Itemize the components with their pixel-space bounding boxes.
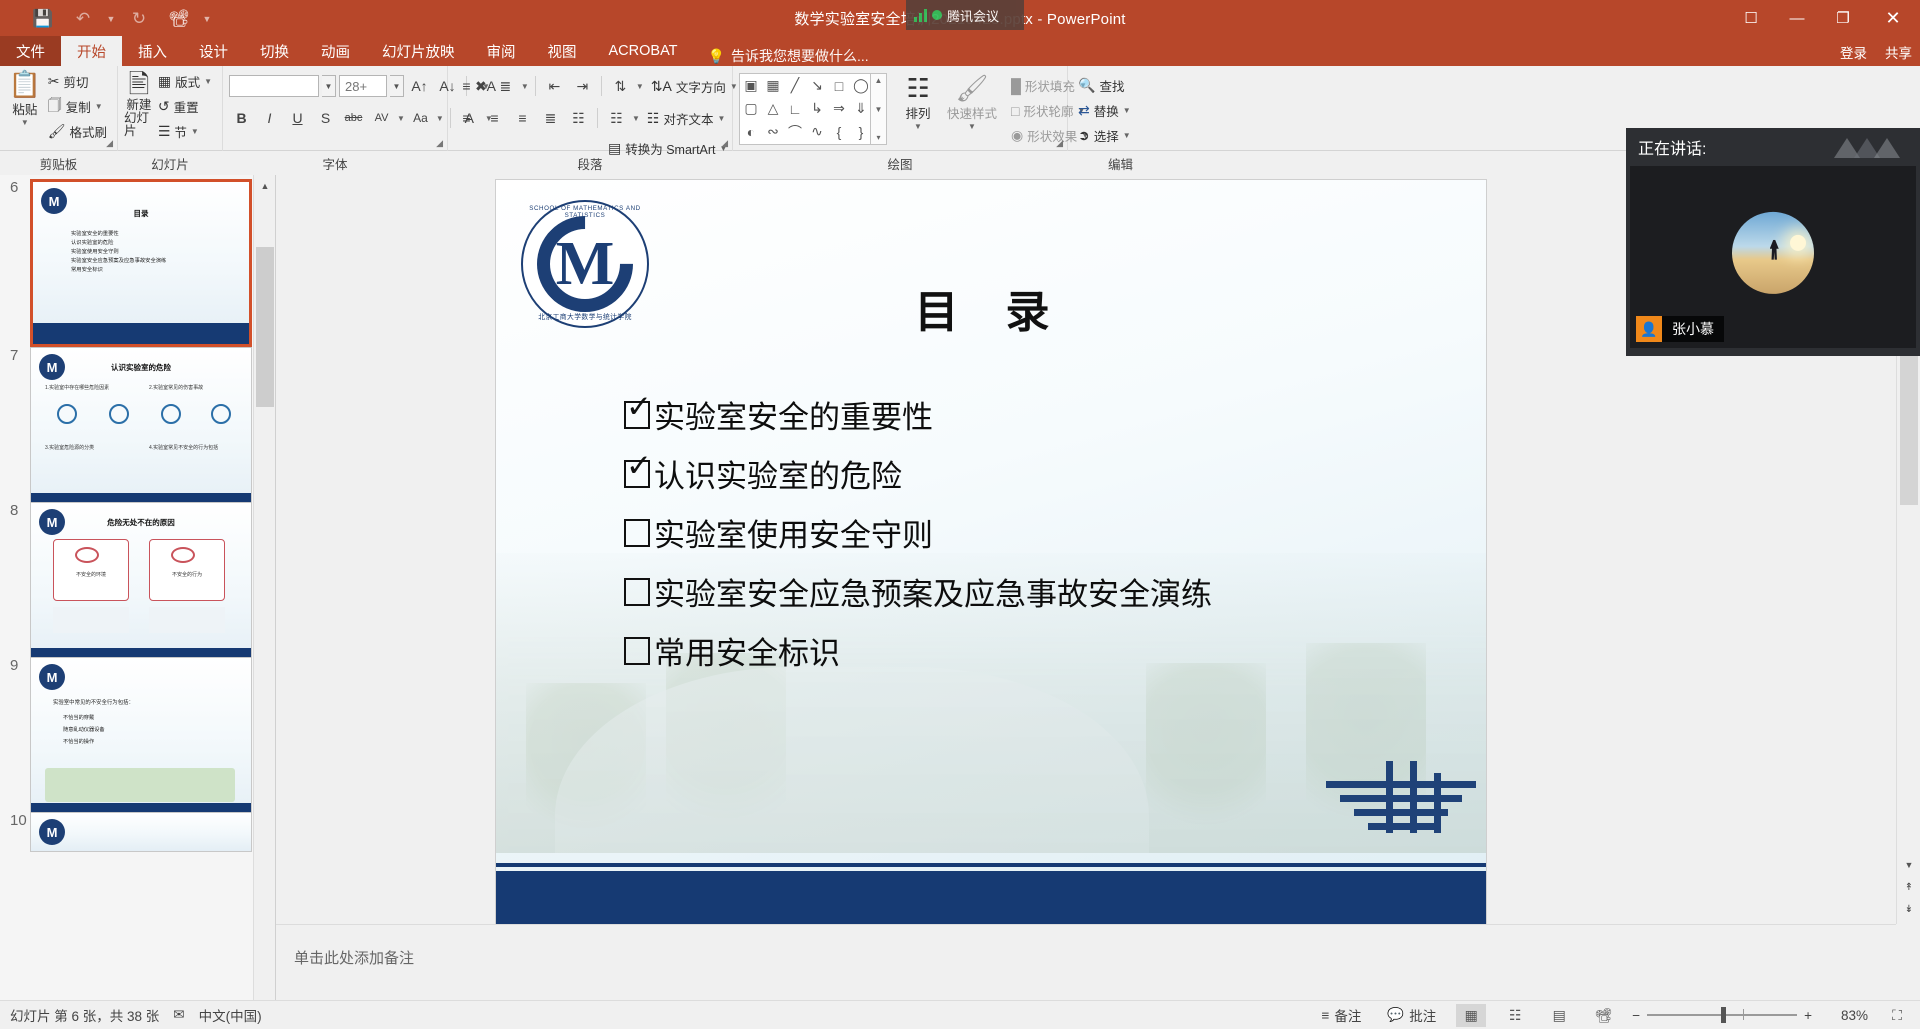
next-slide-button[interactable]: ↡ — [1897, 898, 1920, 920]
slide-sorter-view-button[interactable]: ☷ — [1500, 1004, 1530, 1027]
arrange-icon: ☷ — [906, 73, 929, 103]
thumb-line: 实验室中常见的不安全行为包括： — [53, 698, 134, 706]
sign-in-link[interactable]: 登录 — [1840, 42, 1867, 62]
tell-me-box[interactable]: 💡 告诉我您想要做什么... — [694, 46, 869, 66]
tab-transitions[interactable]: 切换 — [244, 36, 305, 66]
shape-ellipse-icon[interactable]: ◯ — [850, 74, 872, 97]
shapes-more-icon[interactable]: ▾ — [876, 133, 880, 142]
paragraph-row-2: ≡ ≡ ≡ ≣ ☷ ☷ ▼ ☷ 对齐文本 ▼ — [454, 105, 742, 131]
corner-ornament — [1326, 751, 1476, 847]
clipboard-group-label: 剪贴板 — [0, 154, 117, 173]
close-button[interactable]: ✕ — [1866, 0, 1920, 36]
numbering-button[interactable]: ≣ — [493, 74, 518, 99]
layout-button[interactable]: ▦ 版式 ▼ — [154, 69, 216, 94]
ribbon-group-drawing: ▣ ▦ ╱ ↘ □ ◯ ▢ △ ∟ ↳ ⇒ ⇓ ◐ ∾ ⌒ ∿ { — [733, 66, 1068, 151]
shape-left-brace-icon[interactable]: { — [828, 120, 850, 143]
zoom-tick — [1743, 1009, 1744, 1020]
paragraph-row-1: ≡ ▼ ≣ ▼ ⇤ ⇥ ⇅ ▼ ⇅A 文字方向 ▼ — [454, 73, 742, 99]
tab-home[interactable]: 开始 — [61, 36, 122, 66]
tab-review[interactable]: 审阅 — [471, 36, 532, 66]
shape-rounded-rectangle-icon[interactable]: ▢ — [740, 97, 762, 120]
notes-placeholder: 单击此处添加备注 — [294, 947, 414, 968]
recording-dot-icon — [932, 10, 942, 20]
unchecked-checkbox-icon — [624, 519, 650, 547]
comments-label: 批注 — [1409, 1005, 1436, 1025]
align-text-caret-icon[interactable]: ▼ — [718, 114, 726, 123]
arrange-label: 排列 — [905, 103, 930, 122]
case-caret-icon[interactable]: ▼ — [436, 114, 444, 123]
bullets-caret-icon[interactable]: ▼ — [482, 82, 490, 91]
account-area: 登录 共享 — [1840, 42, 1912, 62]
change-case-button[interactable]: Aa — [408, 106, 433, 131]
ribbon-group-paragraph: ≡ ▼ ≣ ▼ ⇤ ⇥ ⇅ ▼ ⇅A 文字方向 ▼ — [448, 66, 733, 151]
cursor-icon: ➲ — [1078, 127, 1090, 144]
font-dialog-launcher[interactable]: ◢ — [436, 138, 443, 149]
tab-design[interactable]: 设计 — [183, 36, 244, 66]
section-icon: ☰ — [158, 123, 171, 140]
thumb-line: 实验室使用安全守则 — [71, 248, 166, 257]
columns-button[interactable]: ☷ — [604, 106, 629, 131]
agenda-item-label: 实验室安全的重要性 — [654, 392, 933, 437]
notes-pane[interactable]: 单击此处添加备注 — [276, 924, 1896, 1000]
thumb-number-6: 6 — [10, 179, 18, 196]
align-left-button[interactable]: ≡ — [454, 106, 479, 131]
character-spacing-button[interactable]: AV — [369, 106, 394, 131]
columns-caret-icon[interactable]: ▼ — [632, 114, 640, 123]
shape-triangle-icon[interactable]: △ — [762, 97, 784, 120]
shape-rectangle-icon[interactable]: □ — [828, 74, 850, 97]
reading-view-button[interactable]: ▤ — [1544, 1004, 1574, 1027]
layout-icon: ▦ — [158, 73, 171, 90]
drawing-group-label: 绘图 — [733, 154, 1067, 173]
agenda-item[interactable]: 常用安全标识 — [624, 626, 1456, 675]
thumbnail-slide-10[interactable]: M — [30, 812, 252, 852]
shape-elbow-connector-icon[interactable]: ∟ — [784, 97, 806, 120]
italic-button[interactable]: I — [257, 106, 282, 131]
numbering-caret-icon[interactable]: ▼ — [521, 82, 529, 91]
shape-arrow-icon[interactable]: ↘ — [806, 74, 828, 97]
thumb-number-10: 10 — [10, 812, 27, 829]
select-label: 选择 — [1094, 126, 1119, 145]
shape-textbox-icon[interactable]: ▣ — [740, 74, 762, 97]
thumb-line: 随意乱动仪器设备 — [63, 726, 105, 733]
format-painter-label: 格式刷 — [69, 122, 107, 141]
undo-icon[interactable]: ↶ — [64, 3, 102, 33]
thumbnail-scroll-up-icon[interactable]: ▲ — [254, 175, 276, 197]
format-painter-button[interactable]: 🖌 格式刷 — [44, 119, 111, 144]
shape-effects-icon: ◉ — [1011, 127, 1023, 144]
section-label: 节 — [174, 122, 187, 141]
thumb-line: 实验室安全的重要性 — [71, 230, 166, 239]
minimize-button[interactable]: — — [1774, 0, 1820, 36]
paste-label: 粘贴 — [12, 99, 37, 118]
font-size-input[interactable]: 28+ — [339, 75, 387, 97]
undo-caret-icon[interactable]: ▼ — [104, 3, 118, 33]
thumb-logo-icon: M — [39, 664, 65, 690]
paragraph-dialog-launcher[interactable]: ◢ — [721, 138, 728, 149]
increase-font-size-button[interactable]: A↑ — [407, 74, 432, 99]
align-text-icon: ☷ — [647, 110, 660, 127]
bold-button[interactable]: B — [229, 106, 254, 131]
zoom-slider[interactable]: − + — [1632, 1008, 1812, 1023]
fit-to-window-icon[interactable]: ⛶ — [1882, 1004, 1912, 1027]
shape-outline-label: 形状轮廓 — [1023, 101, 1073, 120]
thumbnail-scrollbar[interactable]: ▲ — [253, 175, 275, 1000]
zoom-in-button[interactable]: + — [1804, 1008, 1812, 1023]
notes-button[interactable]: ≡ 备注 — [1316, 1004, 1368, 1027]
start-slideshow-icon[interactable]: 📽 — [160, 3, 198, 33]
line-spacing-button[interactable]: ⇅ — [608, 74, 633, 99]
agenda-item-label: 实验室使用安全守则 — [654, 510, 933, 555]
new-slide-button[interactable]: 🖹 新建 幻灯片 — [124, 69, 154, 143]
customize-qat-icon[interactable]: ▼ — [200, 3, 214, 33]
comment-icon: 💬 — [1387, 1007, 1404, 1023]
notes-icon: ≡ — [1322, 1008, 1330, 1023]
section-caret-icon[interactable]: ▼ — [191, 127, 199, 136]
justify-button[interactable]: ≣ — [538, 106, 563, 131]
ribbon-group-font: ▼ 28+ ▼ A↑ A↓ ✖A B I U S abc AV ▼ Aa — [223, 66, 448, 151]
slide-scroll-down-icon[interactable]: ▼ — [1897, 854, 1920, 876]
thumbnail-slide-6[interactable]: M 目录 实验室安全的重要性 认识实验室的危险 实验室使用安全守则 实验室安全应… — [30, 179, 252, 347]
thumbnail-slide-9[interactable]: M 实验室中常见的不安全行为包括： 不恰当的穿戴 随意乱动仪器设备 不恰当的操作 — [30, 657, 252, 825]
increase-indent-button[interactable]: ⇥ — [570, 74, 595, 99]
ribbon-display-options-icon[interactable]: ☐ — [1728, 0, 1774, 36]
ribbon-group-clipboard: 📋 粘贴 ▼ ✂ 剪切 🗍 复制 ▼ 🖌 格式刷 剪贴板 — [0, 66, 118, 151]
tencent-meeting-logo-icon — [1834, 136, 1898, 158]
slides-commands: ▦ 版式 ▼ ↺ 重置 ☰ 节 ▼ — [154, 69, 216, 144]
signal-bars-icon — [914, 8, 927, 22]
thumb-number-7: 7 — [10, 347, 18, 364]
shapes-scroll-up-icon[interactable]: ▲ — [875, 76, 883, 85]
shape-pie-icon[interactable]: ◐ — [740, 120, 762, 143]
copy-caret-icon[interactable]: ▼ — [95, 102, 103, 111]
person-icon: 👤 — [1636, 316, 1662, 342]
paste-caret-icon[interactable]: ▼ — [21, 118, 29, 127]
copy-button[interactable]: 🗍 复制 ▼ — [44, 94, 111, 119]
paste-button[interactable]: 📋 粘贴 ▼ — [6, 69, 44, 143]
powerpoint-window: 💾 ↶ ▼ ↻ 📽 ▼ 数学实验室安全培训20210428.pptx - Pow… — [0, 0, 1920, 1029]
replace-button[interactable]: ⇄ 替换 ▼ — [1074, 98, 1135, 123]
window-controls: ☐ — ❐ ✕ — [1728, 0, 1920, 36]
reset-icon: ↺ — [158, 98, 170, 115]
thumb-line: 不安全的环境 — [61, 571, 121, 578]
unchecked-checkbox-icon — [624, 578, 650, 606]
thumb-line: 认识实验室的危险 — [71, 239, 166, 248]
underline-button[interactable]: U — [285, 106, 310, 131]
ribbon-tabs: 文件 开始 插入 设计 切换 动画 幻灯片放映 审阅 视图 ACROBAT 💡 … — [0, 36, 1920, 66]
shapes-scroll-down-icon[interactable]: ▼ — [875, 105, 883, 114]
replace-caret-icon[interactable]: ▼ — [1123, 106, 1131, 115]
arrange-button[interactable]: ☷ 排列 ▼ — [893, 73, 943, 147]
zoom-knob[interactable] — [1721, 1007, 1726, 1023]
checked-checkbox-icon — [624, 401, 650, 429]
thumbnail-slide-8[interactable]: M 危险无处不在的原因 不安全的环境 不安全的行为 — [30, 502, 252, 670]
thumbnail-scroll-thumb[interactable] — [256, 247, 274, 407]
agenda-item[interactable]: 认识实验室的危险 — [624, 449, 1456, 498]
current-slide[interactable]: M SCHOOL OF MATHEMATICS AND STATISTICS 北… — [496, 180, 1486, 925]
scissors-icon: ✂ — [48, 73, 60, 90]
shape-curve-icon[interactable]: ∿ — [806, 120, 828, 143]
shape-down-arrow-icon[interactable]: ⇓ — [850, 97, 872, 120]
clipboard-icon: 📋 — [9, 69, 41, 99]
logo-top-text: SCHOOL OF MATHEMATICS AND STATISTICS — [521, 205, 649, 219]
font-size-caret-icon[interactable]: ▼ — [390, 75, 404, 97]
font-group-label: 字体 — [223, 154, 447, 173]
agenda-item-label: 实验室安全应急预案及应急事故安全演练 — [654, 569, 1212, 614]
replace-icon: ⇄ — [1078, 102, 1090, 119]
arrange-caret-icon[interactable]: ▼ — [914, 122, 922, 131]
tab-insert[interactable]: 插入 — [122, 36, 183, 66]
ribbon-group-editing: 🔍 查找 ⇄ 替换 ▼ ➲ 选择 ▼ 编辑 — [1068, 66, 1173, 151]
thumb-line: 3.实验室危险源的分类 — [45, 444, 94, 451]
distribute-button[interactable]: ☷ — [566, 106, 591, 131]
save-icon[interactable]: 💾 — [24, 3, 62, 33]
lightbulb-icon: 💡 — [708, 48, 725, 65]
restore-button[interactable]: ❐ — [1820, 0, 1866, 36]
shape-outline-icon: □ — [1011, 103, 1019, 119]
agenda-item[interactable]: 实验室安全的重要性 — [624, 390, 1456, 439]
thumb-line: 常用安全标识 — [71, 266, 166, 275]
text-direction-label: 文字方向 — [676, 77, 726, 96]
tencent-meeting-panel[interactable]: 正在讲话: 👤 张小慕 — [1626, 128, 1920, 356]
reset-label: 重置 — [174, 97, 199, 116]
paragraph-group-label: 段落 — [448, 154, 732, 173]
tencent-meeting-indicator[interactable]: 腾讯会议 — [906, 0, 1024, 30]
align-center-button[interactable]: ≡ — [482, 106, 507, 131]
thumb-logo-icon: M — [39, 819, 65, 845]
copy-label: 复制 — [66, 97, 91, 116]
meeting-speaking-label: 正在讲话: — [1638, 135, 1706, 159]
checked-checkbox-icon — [624, 460, 650, 488]
status-bar: 幻灯片 第 6 张，共 38 张 ✉ 中文(中国) ≡ 备注 💬 批注 ▦ ☷ … — [0, 1000, 1920, 1029]
thumb-line: 不恰当的操作 — [63, 738, 94, 745]
thumb-line: 不恰当的穿戴 — [63, 714, 94, 721]
share-button[interactable]: 共享 — [1885, 42, 1912, 62]
copy-icon: 🗍 — [48, 95, 62, 119]
thumbnail-slide-7[interactable]: M 认识实验室的危险 1.实验室中存在哪些危险因素 2.实验室常见的伤害事故 3… — [30, 347, 252, 515]
speaker-name: 张小慕 — [1662, 319, 1724, 339]
search-icon: 🔍 — [1078, 77, 1095, 94]
cut-label: 剪切 — [63, 72, 88, 91]
zoom-percent[interactable]: 83% — [1826, 1008, 1868, 1023]
shape-elbow-arrow-icon[interactable]: ↳ — [806, 97, 828, 120]
replace-label: 替换 — [1094, 101, 1119, 120]
text-direction-button[interactable]: ⇅A 文字方向 ▼ — [647, 74, 742, 99]
align-right-button[interactable]: ≡ — [510, 106, 535, 131]
title-bar: 💾 ↶ ▼ ↻ 📽 ▼ 数学实验室安全培训20210428.pptx - Pow… — [0, 0, 1920, 36]
tab-view[interactable]: 视图 — [532, 36, 593, 66]
text-direction-icon: ⇅A — [651, 78, 672, 95]
shapes-scroll[interactable]: ▲ ▼ ▾ — [871, 73, 887, 145]
quick-access-toolbar: 💾 ↶ ▼ ↻ 📽 ▼ — [0, 3, 214, 33]
shape-right-brace-icon[interactable]: } — [850, 120, 872, 143]
zoom-track[interactable] — [1647, 1014, 1797, 1016]
quick-styles-icon: 🖌 — [955, 73, 988, 103]
tencent-meeting-label: 腾讯会议 — [947, 6, 999, 25]
ribbon-group-slides: 🖹 新建 幻灯片 ▦ 版式 ▼ ↺ 重置 ☰ 节 ▼ — [118, 66, 223, 151]
shape-fill-icon: █ — [1011, 78, 1021, 94]
spell-check-icon[interactable]: ✉ — [173, 1007, 184, 1023]
drawing-dialog-launcher[interactable]: ◢ — [1056, 138, 1063, 149]
new-slide-label-2: 幻灯片 — [124, 112, 154, 138]
quick-styles-button[interactable]: 🖌 快速样式 ▼ — [943, 73, 1001, 147]
text-shadow-button[interactable]: S — [313, 106, 338, 131]
tab-animations[interactable]: 动画 — [305, 36, 366, 66]
thumb-title-8: 危险无处不在的原因 — [31, 517, 251, 528]
tab-acrobat[interactable]: ACROBAT — [593, 36, 694, 66]
font-name-caret-icon[interactable]: ▼ — [322, 75, 336, 97]
slides-group-label: 幻灯片 — [118, 154, 222, 173]
layout-caret-icon[interactable]: ▼ — [204, 77, 212, 86]
cut-button[interactable]: ✂ 剪切 — [44, 69, 111, 94]
slideshow-view-button[interactable]: 📽 — [1588, 1004, 1618, 1027]
slide-title[interactable]: 目 录 — [496, 276, 1486, 340]
tab-file[interactable]: 文件 — [0, 36, 61, 66]
agenda-item[interactable]: 实验室使用安全守则 — [624, 508, 1456, 557]
agenda-item-label: 常用安全标识 — [654, 628, 840, 673]
notes-label: 备注 — [1334, 1005, 1361, 1025]
meeting-video-tile[interactable]: 👤 张小慕 — [1630, 166, 1916, 348]
unchecked-checkbox-icon — [624, 637, 650, 665]
find-button[interactable]: 🔍 查找 — [1074, 73, 1135, 98]
align-text-label: 对齐文本 — [663, 109, 713, 128]
thumb-title-7: 认识实验室的危险 — [31, 362, 251, 373]
thumb-line: 2.实验室常见的伤害事故 — [149, 384, 203, 391]
avatar — [1732, 212, 1814, 294]
shape-vertical-textbox-icon[interactable]: ▦ — [762, 74, 784, 97]
find-label: 查找 — [1099, 76, 1124, 95]
shape-right-arrow-icon[interactable]: ⇒ — [828, 97, 850, 120]
meeting-header: 正在讲话: — [1626, 128, 1920, 166]
normal-view-button[interactable]: ▦ — [1456, 1004, 1486, 1027]
thumb-line: 4.实验室常见不安全的行为包括 — [149, 444, 218, 451]
shape-freeform-icon[interactable]: ∾ — [762, 120, 784, 143]
quick-styles-label: 快速样式 — [947, 103, 997, 122]
clipboard-commands: ✂ 剪切 🗍 复制 ▼ 🖌 格式刷 — [44, 69, 111, 144]
agenda-item[interactable]: 实验室安全应急预案及应急事故安全演练 — [624, 567, 1456, 616]
thumb-line: 不安全的行为 — [157, 571, 217, 578]
thumb-line: 实验室安全应急预案及应急事故安全演练 — [71, 257, 166, 266]
speaker-name-tag: 👤 张小慕 — [1636, 316, 1724, 342]
quick-styles-caret-icon[interactable]: ▼ — [968, 122, 976, 131]
language-indicator[interactable]: 中文(中国) — [199, 1005, 262, 1025]
agenda-item-label: 认识实验室的危险 — [654, 451, 902, 496]
thumb-number-8: 8 — [10, 502, 18, 519]
strikethrough-button[interactable]: abc — [341, 106, 366, 131]
bullets-button[interactable]: ≡ — [454, 74, 479, 99]
shapes-gallery[interactable]: ▣ ▦ ╱ ↘ □ ◯ ▢ △ ∟ ↳ ⇒ ⇓ ◐ ∾ ⌒ ∿ { — [739, 73, 871, 145]
tab-slideshow[interactable]: 幻灯片放映 — [366, 36, 471, 66]
select-button[interactable]: ➲ 选择 ▼ — [1074, 123, 1135, 148]
layout-label: 版式 — [175, 72, 200, 91]
font-name-input[interactable] — [229, 75, 319, 97]
section-button[interactable]: ☰ 节 ▼ — [154, 119, 216, 144]
thumb-title-6: 目录 — [33, 208, 249, 219]
select-caret-icon[interactable]: ▼ — [1123, 131, 1131, 140]
slide-thumbnail-pane[interactable]: 6 M 目录 实验室安全的重要性 认识实验室的危险 实验室使用安全守则 实验室安… — [0, 175, 276, 1000]
reset-button[interactable]: ↺ 重置 — [154, 94, 216, 119]
redo-icon[interactable]: ↻ — [120, 3, 158, 33]
line-spacing-caret-icon[interactable]: ▼ — [636, 82, 644, 91]
new-slide-icon: 🖹 — [128, 69, 149, 99]
clipboard-dialog-launcher[interactable]: ◢ — [106, 138, 113, 149]
editing-group-label: 编辑 — [1068, 154, 1173, 173]
shape-line-icon[interactable]: ╱ — [784, 74, 806, 97]
tell-me-label: 告诉我您想要做什么... — [731, 46, 869, 66]
decrease-indent-button[interactable]: ⇤ — [542, 74, 567, 99]
spacing-caret-icon[interactable]: ▼ — [397, 114, 405, 123]
zoom-out-button[interactable]: − — [1632, 1008, 1640, 1023]
align-text-button[interactable]: ☷ 对齐文本 ▼ — [643, 106, 730, 131]
comments-button[interactable]: 💬 批注 — [1381, 1004, 1442, 1027]
thumb-line: 1.实验室中存在哪些危险因素 — [45, 384, 109, 391]
agenda-list[interactable]: 实验室安全的重要性 认识实验室的危险 实验室使用安全守则 实验室安全应急预案及应… — [624, 390, 1456, 685]
thumb-number-9: 9 — [10, 657, 18, 674]
shape-arc-icon[interactable]: ⌒ — [784, 120, 806, 143]
previous-slide-button[interactable]: ↟ — [1897, 876, 1920, 898]
slide-counter: 幻灯片 第 6 张，共 38 张 — [10, 1005, 159, 1025]
paintbrush-icon: 🖌 — [48, 123, 66, 140]
